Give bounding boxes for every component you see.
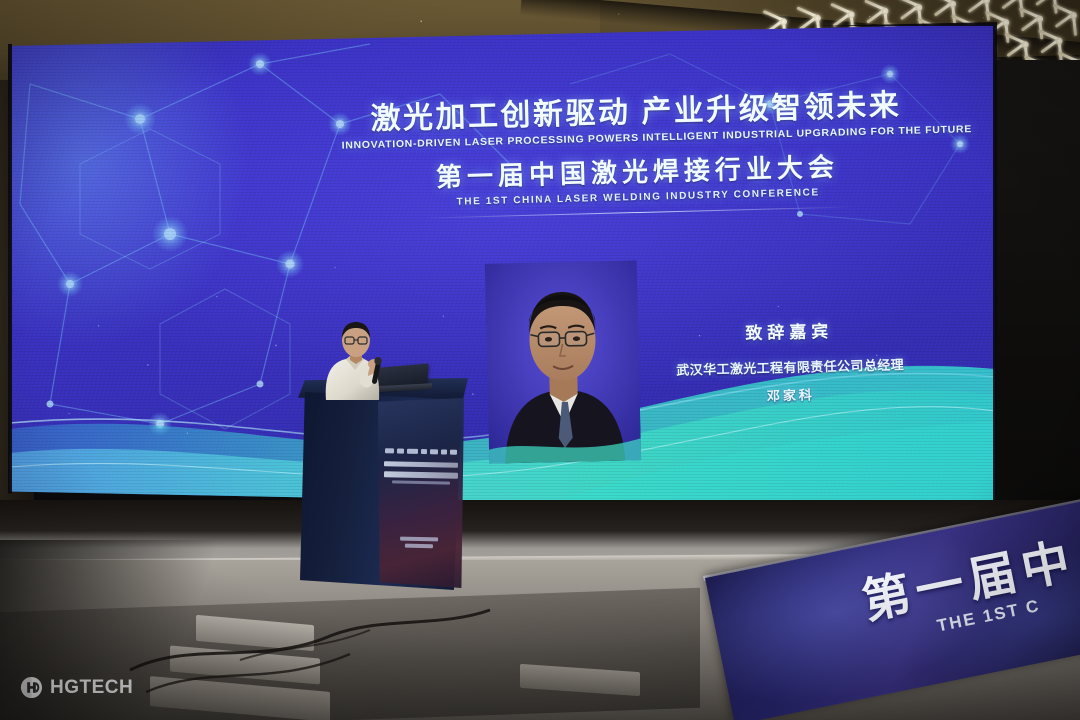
speaker-caption-block: 致辞嘉宾 武汉华工激光工程有限责任公司总经理 邓家科 [649, 315, 931, 408]
hgtech-mark-icon [20, 676, 43, 699]
podium-footer-text [400, 537, 442, 550]
speaker-person [312, 322, 398, 402]
hgtech-logo-text: HGTECH [50, 677, 133, 699]
caption-organization: 武汉华工激光工程有限责任公司总经理 [650, 354, 930, 380]
hgtech-logo: HGTECH [20, 676, 133, 699]
speaker-portrait-photo [485, 260, 641, 463]
screenshot-root: 激光加工创新驱动 产业升级智领未来 INNOVATION-DRIVEN LASE… [0, 0, 1080, 720]
podium-sponsor-logos [385, 447, 457, 456]
screen-headline-block: 激光加工创新驱动 产业升级智领未来 INNOVATION-DRIVEN LASE… [341, 88, 934, 220]
floor-cables [120, 600, 500, 700]
podium-front-panel [378, 398, 464, 588]
